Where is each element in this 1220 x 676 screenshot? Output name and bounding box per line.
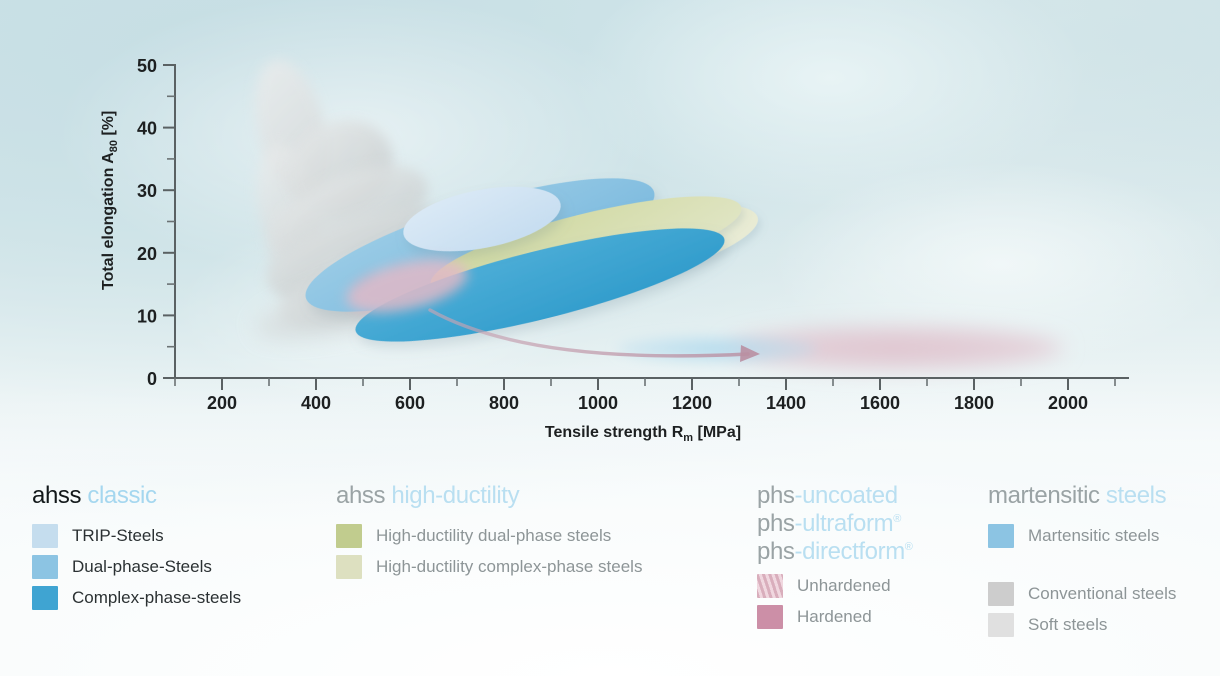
- legend-swatch: [988, 613, 1014, 637]
- legend-spacer: [988, 553, 1176, 580]
- legend-title-accent: -uncoated: [795, 482, 898, 509]
- y-axis-ticks: [163, 65, 175, 378]
- svg-text:Total elongation A80 [%]: Total elongation A80 [%]: [100, 111, 120, 290]
- chart-svg: 50 40 30 20 10 0 Total elongation A80 [%…: [0, 0, 1220, 460]
- legend-group-ahss-classic: ahss classic TRIP-Steels Dual-phase-Stee…: [32, 484, 241, 615]
- y-axis: 50 40 30 20 10 0: [137, 56, 175, 389]
- x-tick-label: 1000: [578, 393, 618, 413]
- y-axis-title: Total elongation A80 [%]: [100, 111, 120, 290]
- legend-item-label: Unhardened: [797, 577, 891, 594]
- x-tick-label: 2000: [1048, 393, 1088, 413]
- x-tick-label: 600: [395, 393, 425, 413]
- legend-group-title: ahss high-ductility: [336, 484, 642, 508]
- y-axis-title-sub: 80: [108, 140, 120, 152]
- legend-group-martensitic: martensitic steels Martensitic steels Co…: [988, 484, 1176, 642]
- legend-swatch: [32, 524, 58, 548]
- legend-item-label: High-ductility complex-phase steels: [376, 558, 642, 575]
- legend-item-label: High-ductility dual-phase steels: [376, 527, 611, 544]
- legend-item-label: Conventional steels: [1028, 585, 1176, 602]
- x-axis-title-main: Tensile strength R: [545, 424, 684, 441]
- y-tick-label: 0: [147, 369, 157, 389]
- legend-title-strong: ahss: [336, 482, 385, 509]
- legend-group-title: martensitic steels: [988, 484, 1176, 508]
- legend-group-ahss-high-ductility: ahss high-ductility High-ductility dual-…: [336, 484, 642, 584]
- legend-title-strong: phs: [757, 482, 795, 509]
- legend-heading-phs-directform[interactable]: phs-directform®: [757, 540, 913, 564]
- legend-swatch-striped: [757, 574, 783, 598]
- legend-item-unhardened[interactable]: Unhardened: [757, 572, 913, 599]
- legend-swatch: [32, 555, 58, 579]
- chart-legend: ahss classic TRIP-Steels Dual-phase-Stee…: [0, 462, 1220, 676]
- legend-item-label: Complex-phase-steels: [72, 589, 241, 606]
- y-tick-label: 10: [137, 306, 157, 326]
- legend-title-superscript: ®: [905, 541, 913, 553]
- legend-title-accent: steels: [1100, 482, 1167, 509]
- legend-swatch: [32, 586, 58, 610]
- legend-item-label: Dual-phase-Steels: [72, 558, 212, 575]
- svg-text:Tensile strength Rm [MPa]: Tensile strength Rm [MPa]: [545, 424, 741, 444]
- x-tick-label: 800: [489, 393, 519, 413]
- x-axis: 200 400 600 800 1000 1200 1400 1600 1800…: [175, 378, 1128, 413]
- legend-item-label: Martensitic steels: [1028, 527, 1159, 544]
- legend-item-hd-complex-phase-steels[interactable]: High-ductility complex-phase steels: [336, 553, 642, 580]
- region-martensitic-steels: [617, 335, 817, 363]
- legend-title-accent: -ultraform: [795, 510, 894, 537]
- x-tick-label: 400: [301, 393, 331, 413]
- y-tick-label: 40: [137, 119, 157, 139]
- y-axis-title-unit: [%]: [100, 111, 117, 140]
- legend-title-accent: -directform: [795, 538, 905, 565]
- legend-title-accent: classic: [81, 482, 156, 509]
- x-tick-label: 1600: [860, 393, 900, 413]
- x-tick-label: 1200: [672, 393, 712, 413]
- legend-title-accent: high-ductility: [385, 482, 519, 509]
- x-tick-label: 200: [207, 393, 237, 413]
- chart-plot-area: 50 40 30 20 10 0 Total elongation A80 [%…: [0, 0, 1220, 460]
- legend-item-hardened[interactable]: Hardened: [757, 603, 913, 630]
- legend-item-label: Hardened: [797, 608, 872, 625]
- legend-group-phs: phs-uncoated phs-ultraform® phs-directfo…: [757, 484, 913, 634]
- legend-heading-phs-ultraform[interactable]: phs-ultraform®: [757, 512, 913, 536]
- legend-heading-phs-uncoated[interactable]: phs-uncoated: [757, 484, 913, 508]
- y-tick-label: 50: [137, 56, 157, 76]
- legend-title-strong: phs: [757, 538, 795, 565]
- y-tick-label: 20: [137, 244, 157, 264]
- legend-group-title: ahss classic: [32, 484, 241, 508]
- legend-item-label: TRIP-Steels: [72, 527, 164, 544]
- legend-item-conventional-steels[interactable]: Conventional steels: [988, 580, 1176, 607]
- x-tick-label: 1400: [766, 393, 806, 413]
- legend-title-strong: phs: [757, 510, 795, 537]
- legend-item-hd-dual-phase-steels[interactable]: High-ductility dual-phase steels: [336, 522, 642, 549]
- legend-item-dual-phase-steels[interactable]: Dual-phase-Steels: [32, 553, 241, 580]
- x-axis-title-unit: [MPa]: [693, 424, 741, 441]
- x-axis-title-sub: m: [683, 432, 693, 444]
- x-axis-ticks: [175, 378, 1115, 390]
- legend-swatch: [757, 605, 783, 629]
- legend-item-label: Soft steels: [1028, 616, 1107, 633]
- legend-swatch: [988, 524, 1014, 548]
- legend-item-soft-steels[interactable]: Soft steels: [988, 611, 1176, 638]
- legend-item-trip-steels[interactable]: TRIP-Steels: [32, 522, 241, 549]
- legend-title-superscript: ®: [893, 513, 901, 525]
- y-axis-title-main: Total elongation A: [100, 152, 117, 290]
- legend-swatch: [988, 582, 1014, 606]
- legend-item-martensitic-steels[interactable]: Martensitic steels: [988, 522, 1176, 549]
- legend-item-complex-phase-steels[interactable]: Complex-phase-steels: [32, 584, 241, 611]
- legend-title-strong: ahss: [32, 482, 81, 509]
- legend-swatch: [336, 555, 362, 579]
- chart-page: 50 40 30 20 10 0 Total elongation A80 [%…: [0, 0, 1220, 676]
- x-axis-title: Tensile strength Rm [MPa]: [545, 424, 741, 444]
- legend-title-strong: martensitic: [988, 482, 1100, 509]
- legend-swatch: [336, 524, 362, 548]
- x-tick-label: 1800: [954, 393, 994, 413]
- y-tick-label: 30: [137, 181, 157, 201]
